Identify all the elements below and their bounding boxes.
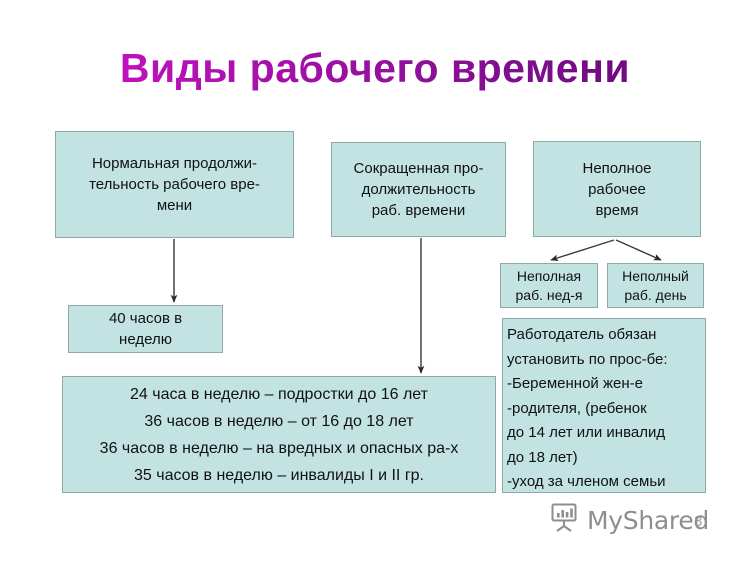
employer-line-7: -уход за членом семьи bbox=[507, 470, 705, 493]
page-number: 3 bbox=[694, 513, 702, 530]
box-partial-line-3: время bbox=[538, 200, 696, 221]
box-forty-hours-line-1: 40 часов в bbox=[73, 308, 218, 329]
box-partial-day-line-1: Неполный bbox=[612, 267, 699, 286]
box-reduced-line-3: раб. времени bbox=[336, 200, 501, 221]
reduced-hours-line-3: 36 часов в неделю – на вредных и опасных… bbox=[67, 435, 491, 462]
box-partial-line-1: Неполное bbox=[538, 158, 696, 179]
box-partial-week-line-1: Неполная bbox=[505, 267, 593, 286]
employer-line-4: -родителя, (ребенок bbox=[507, 397, 705, 422]
box-partial-working-time: Неполное рабочее время bbox=[533, 141, 701, 237]
box-partial-week-line-2: раб. нед-я bbox=[505, 286, 593, 305]
myshared-watermark: MyShared bbox=[549, 503, 709, 537]
box-partial-day-line-2: раб. день bbox=[612, 286, 699, 305]
box-reduced-hours-list: 24 часа в неделю – подростки до 16 лет 3… bbox=[62, 376, 496, 493]
employer-line-3: -Беременной жен-е bbox=[507, 372, 705, 397]
box-reduced-duration: Сокращенная про- должительность раб. вре… bbox=[331, 142, 506, 237]
box-partial-line-2: рабочее bbox=[538, 179, 696, 200]
reduced-hours-line-1: 24 часа в неделю – подростки до 16 лет bbox=[67, 381, 491, 408]
myshared-my: My bbox=[587, 506, 623, 535]
box-reduced-line-1: Сокращенная про- bbox=[336, 158, 501, 179]
employer-line-2: установить по прос-бе: bbox=[507, 348, 705, 373]
box-normal-line-3: мени bbox=[60, 195, 289, 216]
box-partial-week: Неполная раб. нед-я bbox=[500, 263, 598, 308]
employer-line-6: до 18 лет) bbox=[507, 446, 705, 471]
reduced-hours-line-4: 35 часов в неделю – инвалиды I и II гр. bbox=[67, 462, 491, 489]
box-employer-obligations: Работодатель обязан установить по прос-б… bbox=[502, 318, 706, 493]
arrow-partial-to-week bbox=[551, 240, 614, 260]
myshared-wordmark: MyShared bbox=[587, 506, 709, 535]
box-forty-hours-line-2: неделю bbox=[73, 329, 218, 350]
employer-line-1: Работодатель обязан bbox=[507, 323, 705, 348]
box-forty-hours: 40 часов в неделю bbox=[68, 305, 223, 353]
page-title: Виды рабочего времени bbox=[0, 44, 750, 92]
slide-canvas: Виды рабочего времени Нормальная продолж… bbox=[0, 0, 750, 562]
box-normal-line-2: тельность рабочего вре- bbox=[60, 174, 289, 195]
reduced-hours-line-2: 36 часов в неделю – от 16 до 18 лет bbox=[67, 408, 491, 435]
employer-line-5: до 14 лет или инвалид bbox=[507, 421, 705, 446]
box-normal-duration: Нормальная продолжи- тельность рабочего … bbox=[55, 131, 294, 238]
box-reduced-line-2: должительность bbox=[336, 179, 501, 200]
box-partial-day: Неполный раб. день bbox=[607, 263, 704, 308]
presentation-chart-icon bbox=[549, 503, 580, 537]
box-normal-line-1: Нормальная продолжи- bbox=[60, 153, 289, 174]
arrow-partial-to-day bbox=[616, 240, 661, 260]
